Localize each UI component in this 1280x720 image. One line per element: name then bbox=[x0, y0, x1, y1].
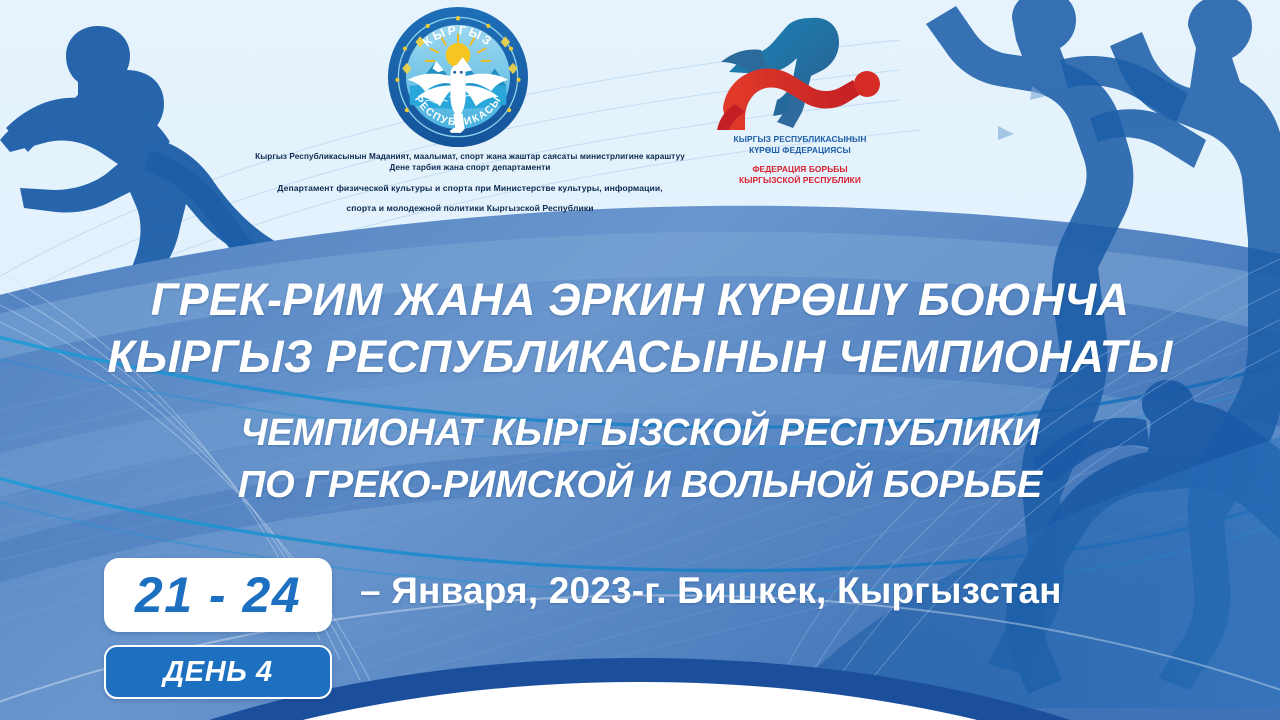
day-badge: ДЕНЬ 4 bbox=[104, 645, 332, 699]
header-zone: КЫРГЫЗ РЕСПУБЛИКАСЫ Кыргыз Республикасын… bbox=[0, 0, 1280, 215]
ministry-ky-line2: Дене тарбия жана спорт департаменти bbox=[170, 163, 770, 174]
federation-caption-ky-line1: КЫРГЫЗ РЕСПУБЛИКАСЫНЫН bbox=[700, 134, 900, 145]
ministry-ru-line2: спорта и молодежной политики Кыргызской … bbox=[170, 203, 770, 214]
wrestling-federation-logo-icon bbox=[715, 12, 885, 130]
ministry-ru-line1: Департамент физической культуры и спорта… bbox=[170, 183, 770, 194]
ministry-attribution: Кыргыз Республикасынын Маданият, маалыма… bbox=[170, 152, 770, 214]
championship-banner: КЫРГЫЗ РЕСПУБЛИКАСЫ Кыргыз Республикасын… bbox=[0, 0, 1280, 720]
ministry-ky-line1: Кыргыз Республикасынын Маданият, маалыма… bbox=[170, 152, 770, 163]
event-date-location: – Января, 2023-г. Бишкек, Кыргызстан bbox=[360, 570, 1062, 612]
dates-badge: 21 - 24 bbox=[104, 558, 332, 632]
kyrgyz-republic-coat-of-arms-icon: КЫРГЫЗ РЕСПУБЛИКАСЫ bbox=[383, 6, 533, 148]
federation-caption-ky-line2: КҮРӨШ ФЕДЕРАЦИЯСЫ bbox=[700, 145, 900, 156]
day-badge-label: ДЕНЬ 4 bbox=[163, 658, 272, 687]
federation-logo-block: КЫРГЫЗ РЕСПУБЛИКАСЫНЫН КҮРӨШ ФЕДЕРАЦИЯСЫ… bbox=[700, 12, 900, 186]
federation-caption-ru-line2: КЫРГЫЗСКОЙ РЕСПУБЛИКИ bbox=[700, 175, 900, 186]
dates-badge-label: 21 - 24 bbox=[135, 570, 301, 620]
federation-caption-ru: ФЕДЕРАЦИЯ БОРЬБЫ КЫРГЫЗСКОЙ РЕСПУБЛИКИ bbox=[700, 164, 900, 187]
federation-caption-ru-line1: ФЕДЕРАЦИЯ БОРЬБЫ bbox=[700, 164, 900, 175]
federation-caption-ky: КЫРГЫЗ РЕСПУБЛИКАСЫНЫН КҮРӨШ ФЕДЕРАЦИЯСЫ bbox=[700, 134, 900, 157]
